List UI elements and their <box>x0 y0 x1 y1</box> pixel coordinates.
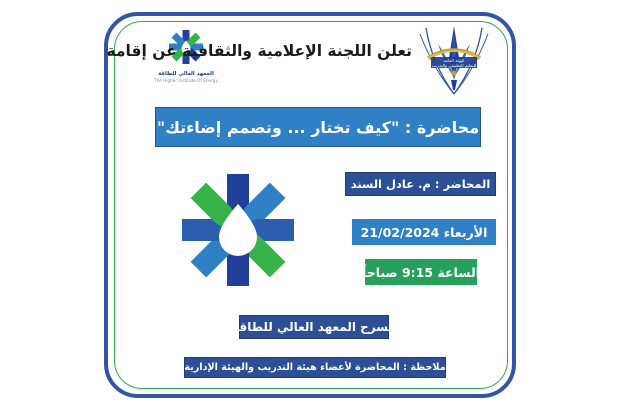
paaet-emblem-icon: الهيئة العامة للتعليم التطبيقي والتدريب <box>416 24 492 98</box>
venue-label: مسرح المعهد العالي للطاقة <box>232 320 396 334</box>
energy-pinwheel-large-icon <box>176 168 300 292</box>
date-label: الأربعاء 21/02/2024 <box>361 225 488 240</box>
poster-canvas: المعهد العالي للطاقة The Higher Institut… <box>0 0 640 412</box>
svg-text:للتعليم التطبيقي والتدريب: للتعليم التطبيقي والتدريب <box>432 63 477 68</box>
paaet-logo: الهيئة العامة للتعليم التطبيقي والتدريب <box>416 24 492 98</box>
energy-pinwheel-emblem <box>176 168 300 292</box>
poster-header: المعهد العالي للطاقة The Higher Institut… <box>124 24 498 98</box>
time-label: الساعة 9:15 صباحاً <box>362 265 480 280</box>
speaker-badge: المحاضر : م. عادل السند <box>345 172 496 196</box>
lecture-title-banner: محاضرة : "كيف تختار ... وتصمم إضاءتك" <box>155 107 481 147</box>
institute-name-english: The Higher Institute Of Energy <box>142 78 230 84</box>
time-badge: الساعة 9:15 صباحاً <box>365 259 477 285</box>
venue-badge: مسرح المعهد العالي للطاقة <box>239 315 389 339</box>
lecture-title-text: محاضرة : "كيف تختار ... وتصمم إضاءتك" <box>157 118 479 137</box>
date-badge: الأربعاء 21/02/2024 <box>352 219 496 245</box>
note-label: ملاحظة : المحاضرة لأعضاء هيئة التدريب وا… <box>184 362 445 373</box>
institute-name-arabic: المعهد العالي للطاقة <box>142 71 230 78</box>
announcement-text: تعلن اللجنة الإعلامية والثقافية عن إقامة <box>182 40 412 62</box>
note-badge: ملاحظة : المحاضرة لأعضاء هيئة التدريب وا… <box>184 357 446 378</box>
speaker-label: المحاضر : م. عادل السند <box>351 177 491 191</box>
